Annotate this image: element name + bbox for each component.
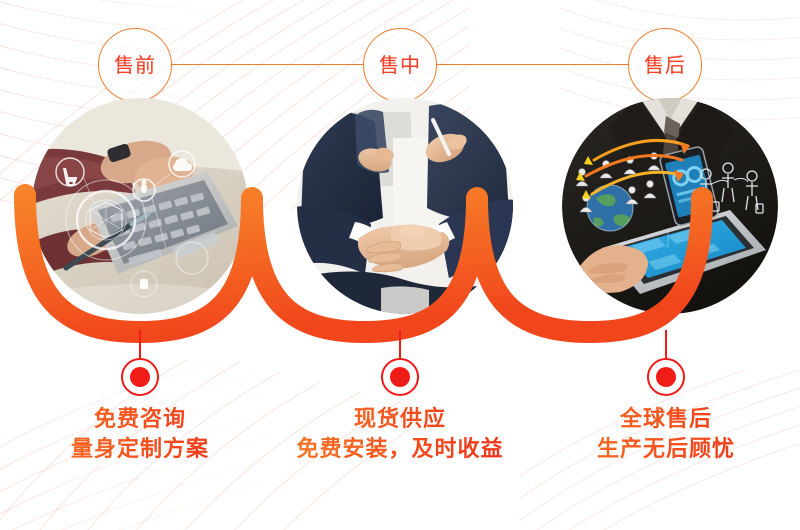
caption-in-sale-line2: 免费安装，及时收益	[250, 435, 550, 465]
connector-line-right	[437, 64, 628, 65]
orange-scalloped-wave	[0, 150, 800, 350]
wave-svg	[0, 150, 800, 350]
caption-in-sale: 现货供应 免费安装，及时收益	[250, 405, 550, 465]
caption-pre-sale: 免费咨询 量身定制方案	[0, 405, 290, 465]
marker-dot-icon	[130, 367, 150, 387]
connector-line-left	[172, 64, 363, 65]
step-label-after-sale[interactable]: 售后	[628, 28, 702, 102]
step-label-pre-sale[interactable]: 售前	[98, 28, 172, 102]
step-label-after-sale-text: 售后	[644, 55, 686, 75]
infographic-canvas: 售前 售中 售后	[0, 0, 800, 530]
caption-pre-sale-line1: 免费咨询	[0, 405, 290, 435]
step-label-in-sale[interactable]: 售中	[363, 28, 437, 102]
caption-after-sale: 全球售后 生产无后顾忧	[516, 405, 800, 465]
marker-after-sale	[643, 330, 689, 402]
marker-in-sale	[377, 330, 423, 402]
marker-stem-icon	[139, 330, 141, 360]
marker-dot-icon	[656, 367, 676, 387]
caption-after-sale-line2: 生产无后顾忧	[516, 435, 800, 465]
marker-stem-icon	[665, 330, 667, 360]
marker-dot-icon	[390, 367, 410, 387]
caption-pre-sale-line2: 量身定制方案	[0, 435, 290, 465]
step-label-in-sale-text: 售中	[379, 55, 421, 75]
marker-pre-sale	[117, 330, 163, 402]
caption-after-sale-line1: 全球售后	[516, 405, 800, 435]
step-label-pre-sale-text: 售前	[114, 55, 156, 75]
caption-in-sale-line1: 现货供应	[250, 405, 550, 435]
marker-stem-icon	[399, 330, 401, 360]
